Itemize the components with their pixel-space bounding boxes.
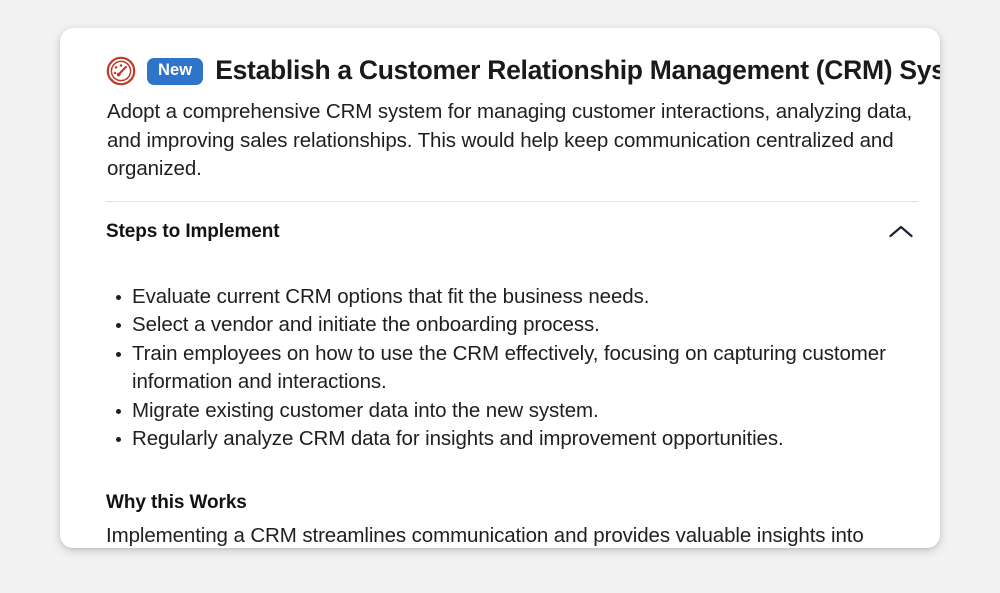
why-this-works-title: Why this Works [106, 492, 916, 514]
recommendation-card: New Establish a Customer Relationship Ma… [60, 28, 940, 548]
card-header: New Establish a Customer Relationship Ma… [106, 50, 916, 92]
steps-list: Evaluate current CRM options that fit th… [106, 283, 916, 454]
why-this-works-body: Implementing a CRM streamlines communica… [106, 522, 916, 549]
gauge-icon [105, 55, 137, 87]
steps-section-title: Steps to Implement [106, 221, 279, 243]
card-content: New Establish a Customer Relationship Ma… [60, 28, 940, 548]
card-description: Adopt a comprehensive CRM system for man… [106, 98, 916, 184]
list-item: Regularly analyze CRM data for insights … [132, 425, 916, 454]
steps-section-header[interactable]: Steps to Implement [106, 219, 918, 245]
status-badge-new: New [147, 58, 203, 85]
list-item: Migrate existing customer data into the … [132, 397, 916, 426]
chevron-up-icon [888, 224, 914, 240]
list-item: Select a vendor and initiate the onboard… [132, 311, 916, 340]
page-background: New Establish a Customer Relationship Ma… [0, 0, 1000, 593]
page-title: Establish a Customer Relationship Manage… [215, 56, 940, 85]
list-item: Train employees on how to use the CRM ef… [132, 340, 916, 397]
header-divider [106, 201, 918, 202]
list-item: Evaluate current CRM options that fit th… [132, 283, 916, 312]
collapse-steps-button[interactable] [884, 219, 918, 245]
